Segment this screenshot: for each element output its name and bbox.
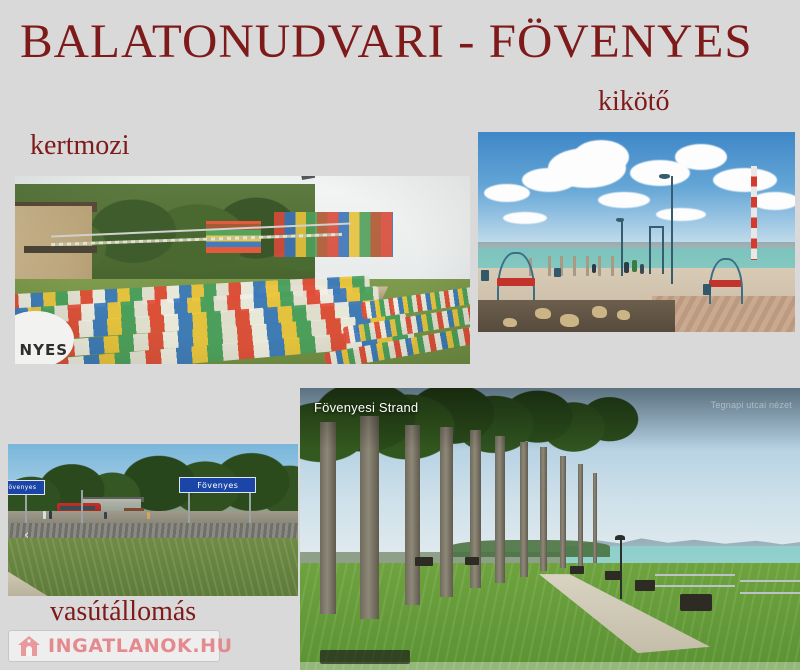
strand-thumbnail-strip[interactable]: [320, 650, 410, 664]
vasut-person: [49, 511, 52, 519]
photo-kertmozi: NYES: [15, 176, 470, 364]
rock: [560, 314, 579, 327]
tree-trunk: [560, 456, 566, 569]
cloud: [751, 192, 795, 210]
tree-trunk: [320, 422, 336, 614]
lamp-post: [620, 537, 622, 599]
label-vasutallomas: vasútállomás: [50, 596, 196, 628]
lamp-head: [615, 535, 625, 540]
kikoto-person: [592, 264, 596, 273]
label-kikoto: kikötő: [598, 86, 670, 118]
shore-railing: [655, 574, 735, 587]
kikoto-lamp-post: [621, 220, 623, 276]
kikoto-lamp-post: [671, 176, 673, 284]
vasut-station-sign-left-text: Fövenyes: [8, 484, 36, 491]
kikoto-lamp-head: [659, 174, 670, 179]
kikoto-person: [624, 262, 629, 273]
vasut-station-sign-right: Fövenyes: [179, 477, 256, 493]
kikoto-bollard: [611, 256, 614, 276]
kikoto-person: [640, 264, 644, 274]
kikoto-frame-beam: [649, 226, 664, 228]
kikoto-bin: [554, 268, 561, 277]
kikoto-frame-post: [649, 226, 651, 274]
kikoto-lamp-head: [616, 218, 624, 222]
park-bench: [465, 557, 479, 565]
cloud: [656, 208, 706, 221]
tree-trunk: [495, 436, 505, 583]
kikoto-frame-post: [662, 226, 664, 274]
photo-kikoto: [478, 132, 795, 332]
vasut-station-sign-left: Fövenyes: [8, 480, 45, 494]
park-bench: [415, 557, 433, 566]
tree-trunk: [405, 425, 420, 605]
kikoto-sign-left: [497, 278, 535, 286]
park-bench: [570, 566, 584, 574]
cloud: [713, 168, 777, 192]
house-icon: [17, 635, 41, 657]
rock: [535, 308, 551, 319]
kikoto-bollard: [548, 256, 551, 276]
vasut-grass-texture: [8, 538, 298, 596]
kikoto-bin: [481, 270, 489, 281]
cloud: [522, 168, 576, 192]
streetview-prev-arrow[interactable]: ‹: [20, 529, 34, 543]
strand-overlay-title: Fövenyesi Strand: [314, 400, 418, 415]
rock: [617, 310, 630, 320]
park-bench: [605, 571, 621, 580]
label-kertmozi: kertmozi: [30, 130, 130, 162]
kikoto-person: [632, 260, 637, 272]
strand-overlay-gradient: [300, 388, 800, 450]
watermark-text: INGATLANOK.HU: [48, 637, 233, 656]
vasut-station-sign-right-text: Fövenyes: [197, 481, 238, 490]
rock: [592, 306, 607, 318]
cloud: [503, 212, 547, 224]
page-title: BALATONUDVARI - FÖVENYES: [20, 16, 795, 68]
photo-vasutallomas: Fövenyes Fövenyes ‹: [8, 444, 298, 596]
tree-trunk: [520, 442, 528, 577]
kikoto-striped-mast: [751, 166, 757, 260]
cloud: [675, 144, 727, 170]
vasut-sign-post-left2: [81, 490, 83, 523]
park-bench: [635, 580, 655, 591]
tree-trunk: [593, 473, 597, 563]
slide-canvas: BALATONUDVARI - FÖVENYES kikötő kertmozi…: [0, 0, 800, 670]
vasut-person: [104, 512, 107, 519]
vasut-locomotive-window: [60, 506, 95, 511]
strand-attribution: Tegnapi utcai nézet: [711, 400, 792, 410]
vasut-person: [147, 512, 150, 519]
kikoto-bin: [703, 284, 711, 295]
rock: [503, 318, 517, 327]
tree-trunk: [540, 447, 547, 571]
vasut-person: [43, 511, 46, 519]
kertmozi-vignette: [15, 176, 470, 364]
kikoto-sign-right: [709, 280, 741, 287]
kikoto-bollard: [573, 256, 576, 276]
tree-trunk: [578, 464, 583, 566]
kikoto-bollard: [586, 256, 589, 276]
park-bench: [680, 594, 712, 611]
cloud: [484, 184, 530, 202]
cloud: [573, 140, 629, 174]
tree-trunk: [440, 427, 453, 596]
photo-strand: Fövenyesi Strand Tegnapi utcai nézet: [300, 388, 800, 670]
kertmozi-overlay-text: NYES: [20, 341, 68, 359]
watermark-ingatlanok[interactable]: INGATLANOK.HU: [8, 630, 220, 662]
kikoto-bollard: [598, 256, 601, 276]
shore-railing: [740, 580, 800, 594]
